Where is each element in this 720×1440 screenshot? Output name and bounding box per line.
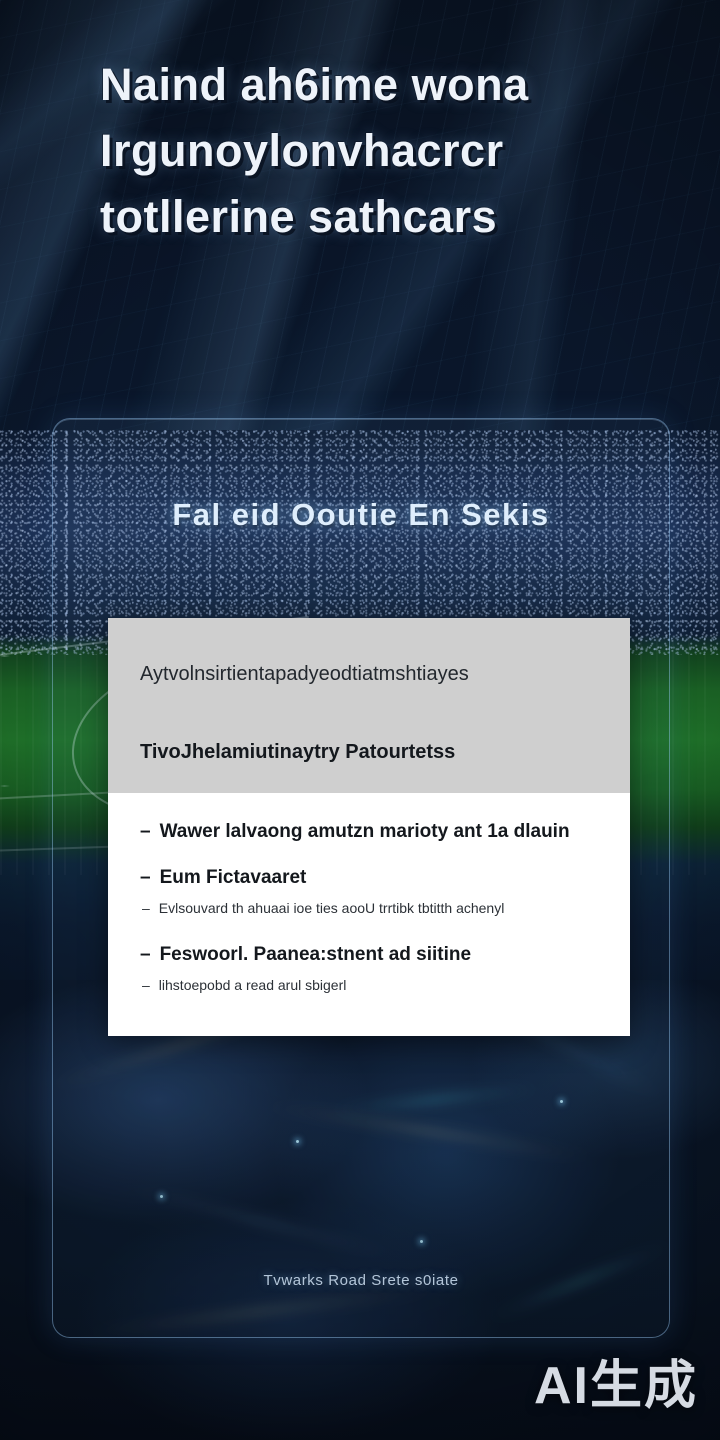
poster-canvas: Naind ah6ime wona Irgunoylonvhacrcr totl…	[0, 0, 720, 1440]
bullet-dash-icon: –	[142, 900, 150, 916]
headline-line-3: totllerine sathcars	[100, 194, 660, 240]
list-item-label: Wawer lalvaong amutzn marioty ant 1a dla…	[160, 821, 570, 843]
list-item-label: Evlsouvard th ahuaai ioe ties aooU trrti…	[159, 900, 505, 916]
bullet-dash-icon: –	[140, 867, 151, 889]
list-item: – Eum Fictavaaret	[140, 867, 598, 889]
list-item: – Wawer lalvaong amutzn marioty ant 1a d…	[140, 821, 598, 843]
card-header-band: Aytvolnsirtientapadyeodtiatmshtiayes Tiv…	[108, 618, 630, 793]
list-item-label: Feswoorl. Paanea:stnent ad siitine	[160, 944, 471, 966]
ai-generated-watermark: AI生成	[534, 1343, 698, 1418]
card-header-subtitle: Aytvolnsirtientapadyeodtiatmshtiayes	[140, 663, 469, 686]
bullet-dash-icon: –	[142, 977, 150, 993]
list-item-label: lihstoepobd a read arul sbigerl	[159, 977, 347, 993]
headline-line-1: Naind ah6ime wona	[100, 62, 660, 108]
bullet-dash-icon: –	[140, 944, 151, 966]
list-item: – lihstoepobd a read arul sbigerl	[142, 977, 598, 993]
list-item: – Feswoorl. Paanea:stnent ad siitine	[140, 944, 598, 966]
headline-block: Naind ah6ime wona Irgunoylonvhacrcr totl…	[100, 62, 660, 260]
panel-footer-text: Tvwarks Road Srete s0iate	[53, 1272, 669, 1289]
list-item: – Evlsouvard th ahuaai ioe ties aooU trr…	[142, 900, 598, 916]
panel-title: Fal eid Ooutie En Sekis	[53, 497, 669, 533]
list-item-label: Eum Fictavaaret	[160, 867, 307, 889]
bullet-dash-icon: –	[140, 821, 151, 843]
content-card: Aytvolnsirtientapadyeodtiatmshtiayes Tiv…	[108, 618, 630, 1036]
card-header-title: TivoJhelamiutinaytry Patourtetss	[140, 741, 455, 764]
card-body: – Wawer lalvaong amutzn marioty ant 1a d…	[108, 793, 630, 993]
headline-line-2: Irgunoylonvhacrcr	[100, 128, 660, 174]
